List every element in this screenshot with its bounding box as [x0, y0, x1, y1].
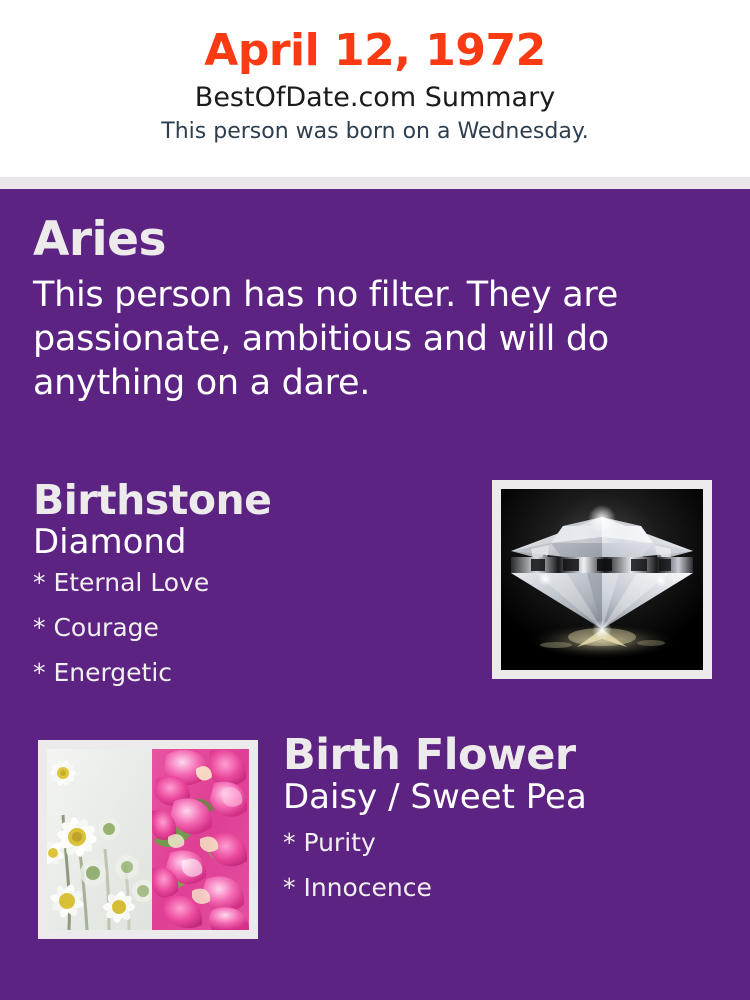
list-item: * Purity — [283, 830, 723, 855]
birthstone-section: Birthstone Diamond * Eternal Love * Cour… — [33, 480, 463, 705]
content-body: Aries This person has no filter. They ar… — [0, 189, 750, 1000]
infographic-page: April 12, 1972 BestOfDate.com Summary Th… — [0, 0, 750, 1000]
birthflower-name: Daisy / Sweet Pea — [283, 779, 723, 816]
birthflower-section: Birth Flower Daisy / Sweet Pea * Purity … — [283, 734, 723, 920]
zodiac-section: Aries This person has no filter. They ar… — [33, 216, 653, 405]
header-divider — [0, 177, 750, 189]
page-title: April 12, 1972 — [0, 28, 750, 74]
diamond-icon — [501, 489, 703, 670]
born-day-label: This person was born on a Wednesday. — [0, 119, 750, 144]
list-item: * Eternal Love — [33, 570, 463, 595]
zodiac-description: This person has no filter. They are pass… — [33, 273, 643, 405]
flower-composite-image — [47, 749, 249, 930]
birthflower-heading: Birth Flower — [283, 734, 723, 778]
list-item: * Courage — [33, 615, 463, 640]
header: April 12, 1972 BestOfDate.com Summary Th… — [0, 0, 750, 177]
sweet-pea-icon — [152, 749, 249, 930]
birthflower-trait-list: * Purity * Innocence — [283, 830, 723, 900]
birthstone-name: Diamond — [33, 524, 463, 561]
daisy-icon — [47, 749, 152, 930]
birthstone-trait-list: * Eternal Love * Courage * Energetic — [33, 570, 463, 685]
list-item: * Energetic — [33, 660, 463, 685]
birthstone-image-frame — [492, 480, 712, 679]
birthflower-image-frame — [38, 740, 258, 939]
birthstone-heading: Birthstone — [33, 480, 463, 522]
list-item: * Innocence — [283, 875, 723, 900]
zodiac-sign-name: Aries — [33, 216, 653, 263]
site-summary-label: BestOfDate.com Summary — [0, 83, 750, 113]
